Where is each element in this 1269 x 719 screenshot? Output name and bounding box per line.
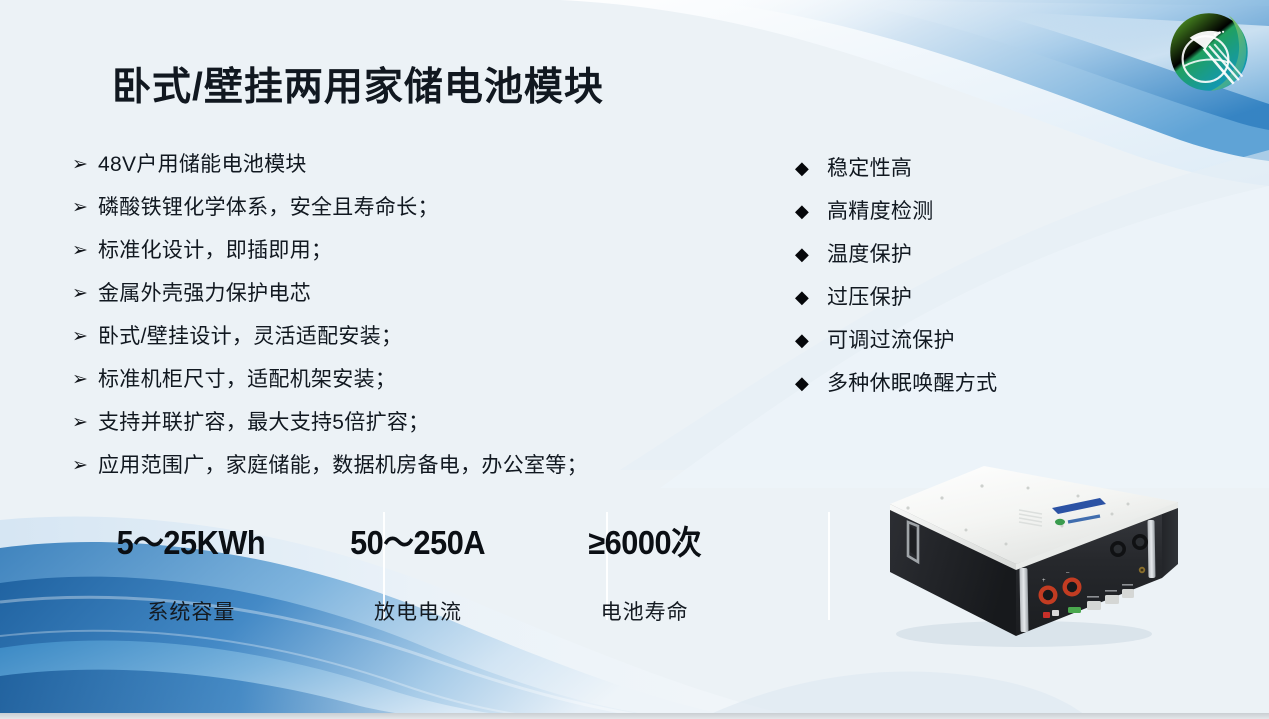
company-logo-icon <box>1165 8 1253 96</box>
diamond-bullet-icon: ◆ <box>795 371 827 397</box>
arrow-bullet-icon: ➢ <box>72 280 98 307</box>
stat-label: 放电电流 <box>374 596 462 626</box>
arrow-bullet-icon: ➢ <box>72 409 98 436</box>
list-item-label: 稳定性高 <box>827 156 912 182</box>
list-item: ➢ 卧式/壁挂设计，灵活适配安装； <box>72 323 712 352</box>
list-item: ◆ 温度保护 <box>795 242 1115 270</box>
list-item: ➢ 金属外壳强力保护电芯 <box>72 280 712 309</box>
list-item-label: 温度保护 <box>827 242 912 268</box>
stat-discharge-current: 50〜250A 放电电流 <box>305 512 532 624</box>
arrow-bullet-icon: ➢ <box>72 237 98 264</box>
list-item: ➢ 应用范围广，家庭储能，数据机房备电，办公室等； <box>72 452 712 481</box>
list-item: ➢ 磷酸铁锂化学体系，安全且寿命长； <box>72 194 712 223</box>
list-item-label: 金属外壳强力保护电芯 <box>98 280 311 307</box>
slide-canvas: 卧式/壁挂两用家储电池模块 ➢ 48V户用储能电池模块 ➢ 磷酸铁锂化学体系，安… <box>0 0 1269 719</box>
stats-row: 5〜25KWh 系统容量 50〜250A 放电电流 ≥6000次 电池寿命 <box>78 512 758 624</box>
stat-label: 电池寿命 <box>601 596 689 626</box>
arrow-bullet-icon: ➢ <box>72 366 98 393</box>
list-item-label: 高精度检测 <box>827 199 934 225</box>
list-item-label: 多种休眠唤醒方式 <box>827 371 997 397</box>
list-item-label: 标准机柜尺寸，适配机架安装； <box>98 366 396 393</box>
stat-value: ≥6000次 <box>588 516 701 564</box>
list-item-label: 48V户用储能电池模块 <box>98 151 307 178</box>
diamond-bullet-icon: ◆ <box>795 156 827 182</box>
product-image: + – <box>856 452 1186 652</box>
list-item-label: 标准化设计，即插即用； <box>98 237 332 264</box>
diamond-bullet-icon: ◆ <box>795 328 827 354</box>
stat-value: 50〜250A <box>351 516 486 564</box>
page-title: 卧式/壁挂两用家储电池模块 <box>112 56 604 112</box>
list-item: ◆ 稳定性高 <box>795 156 1115 184</box>
arrow-bullet-icon: ➢ <box>72 452 98 479</box>
list-item: ➢ 标准化设计，即插即用； <box>72 237 712 266</box>
list-item: ◆ 可调过流保护 <box>795 328 1115 356</box>
stat-value: 5〜25KWh <box>117 516 266 564</box>
stat-label: 系统容量 <box>147 596 235 626</box>
stat-divider <box>828 512 830 620</box>
left-feature-list: ➢ 48V户用储能电池模块 ➢ 磷酸铁锂化学体系，安全且寿命长； ➢ 标准化设计… <box>72 151 712 495</box>
slide-bottom-edge <box>0 713 1269 719</box>
arrow-bullet-icon: ➢ <box>72 194 98 221</box>
list-item-label: 支持并联扩容，最大支持5倍扩容； <box>98 409 429 436</box>
list-item-label: 卧式/壁挂设计，灵活适配安装； <box>98 323 402 350</box>
svg-text:+: + <box>1042 578 1046 584</box>
arrow-bullet-icon: ➢ <box>72 151 98 178</box>
list-item-label: 应用范围广，家庭储能，数据机房备电，办公室等； <box>98 452 588 479</box>
list-item-label: 可调过流保护 <box>827 328 955 354</box>
list-item: ◆ 多种休眠唤醒方式 <box>795 371 1115 399</box>
diamond-bullet-icon: ◆ <box>795 285 827 311</box>
list-item-label: 过压保护 <box>827 285 912 311</box>
list-item: ➢ 支持并联扩容，最大支持5倍扩容； <box>72 409 712 438</box>
stat-cycle-life: ≥6000次 电池寿命 <box>531 512 758 624</box>
stat-capacity: 5〜25KWh 系统容量 <box>78 512 305 624</box>
right-feature-list: ◆ 稳定性高 ◆ 高精度检测 ◆ 温度保护 ◆ 过压保护 ◆ 可调过流保护 ◆ … <box>795 156 1115 414</box>
list-item: ➢ 48V户用储能电池模块 <box>72 151 712 180</box>
list-item: ➢ 标准机柜尺寸，适配机架安装； <box>72 366 712 395</box>
diamond-bullet-icon: ◆ <box>795 199 827 225</box>
list-item: ◆ 过压保护 <box>795 285 1115 313</box>
list-item: ◆ 高精度检测 <box>795 199 1115 227</box>
arrow-bullet-icon: ➢ <box>72 323 98 350</box>
diamond-bullet-icon: ◆ <box>795 242 827 268</box>
list-item-label: 磷酸铁锂化学体系，安全且寿命长； <box>98 194 439 221</box>
